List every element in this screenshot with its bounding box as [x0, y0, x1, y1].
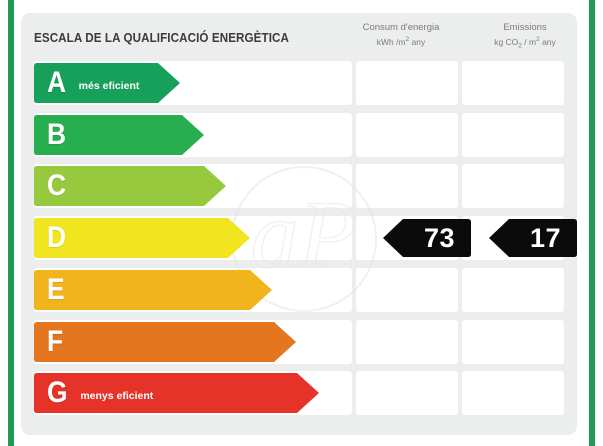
rating-bar-shape-D [34, 218, 250, 258]
rating-bar-B: B [34, 115, 204, 155]
value-badge-text-emissions: 17 [530, 225, 577, 252]
value-badge-emissions: 17 [489, 219, 577, 257]
column-header-energy: Consum d'energia kWh /m2 any [339, 21, 463, 49]
cell-emissions-B [462, 113, 564, 157]
cell-energy-B [356, 113, 458, 157]
rating-letter-A: A [47, 68, 66, 98]
right-green-rule [589, 0, 595, 446]
cell-energy-G [356, 371, 458, 415]
value-badge-energy: 73 [383, 219, 471, 257]
cell-energy-F [356, 320, 458, 364]
rating-letter-F: F [47, 327, 63, 357]
cell-energy-A [356, 61, 458, 105]
rating-bar-D: D [34, 218, 250, 258]
rating-bar-shape-G [34, 373, 319, 413]
left-green-rule [8, 0, 14, 446]
rating-bar-A: Amés eficient [34, 63, 180, 103]
rating-bar-shape-E [34, 270, 272, 310]
column-header-energy-title: Consum d'energia [339, 21, 463, 35]
cell-emissions-C [462, 164, 564, 208]
rating-letter-E: E [47, 275, 65, 305]
rating-letter-C: C [47, 171, 66, 201]
cell-emissions-E [462, 268, 564, 312]
rating-letter-G: G [47, 378, 68, 408]
rating-bar-shape-F [34, 322, 296, 362]
cell-emissions-F [462, 320, 564, 364]
column-header-emissions: Emissions kg CO2 / m2 any [463, 21, 587, 52]
rating-bar-C: C [34, 166, 226, 206]
rating-bar-F: F [34, 322, 296, 362]
energy-scale-panel: ESCALA DE LA QUALIFICACIÓ ENERGÈTICA Con… [21, 13, 577, 435]
column-header-energy-unit: kWh /m2 any [339, 35, 463, 49]
panel-header: ESCALA DE LA QUALIFICACIÓ ENERGÈTICA Con… [21, 13, 577, 61]
rating-letter-B: B [47, 120, 66, 150]
rating-bar-G: Gmenys eficient [34, 373, 319, 413]
cell-energy-E [356, 268, 458, 312]
value-badge-text-energy: 73 [424, 225, 471, 252]
column-header-emissions-unit: kg CO2 / m2 any [463, 35, 587, 51]
cell-emissions-A [462, 61, 564, 105]
cell-energy-C [356, 164, 458, 208]
page-title: ESCALA DE LA QUALIFICACIÓ ENERGÈTICA [34, 31, 289, 45]
rating-sublabel-G: menys eficient [80, 390, 153, 402]
rating-bar-E: E [34, 270, 272, 310]
rating-sublabel-A: més eficient [79, 80, 140, 92]
rating-letter-D: D [47, 223, 66, 253]
energy-certificate-page: ESCALA DE LA QUALIFICACIÓ ENERGÈTICA Con… [0, 0, 603, 446]
column-header-emissions-title: Emissions [463, 21, 587, 35]
cell-emissions-G [462, 371, 564, 415]
